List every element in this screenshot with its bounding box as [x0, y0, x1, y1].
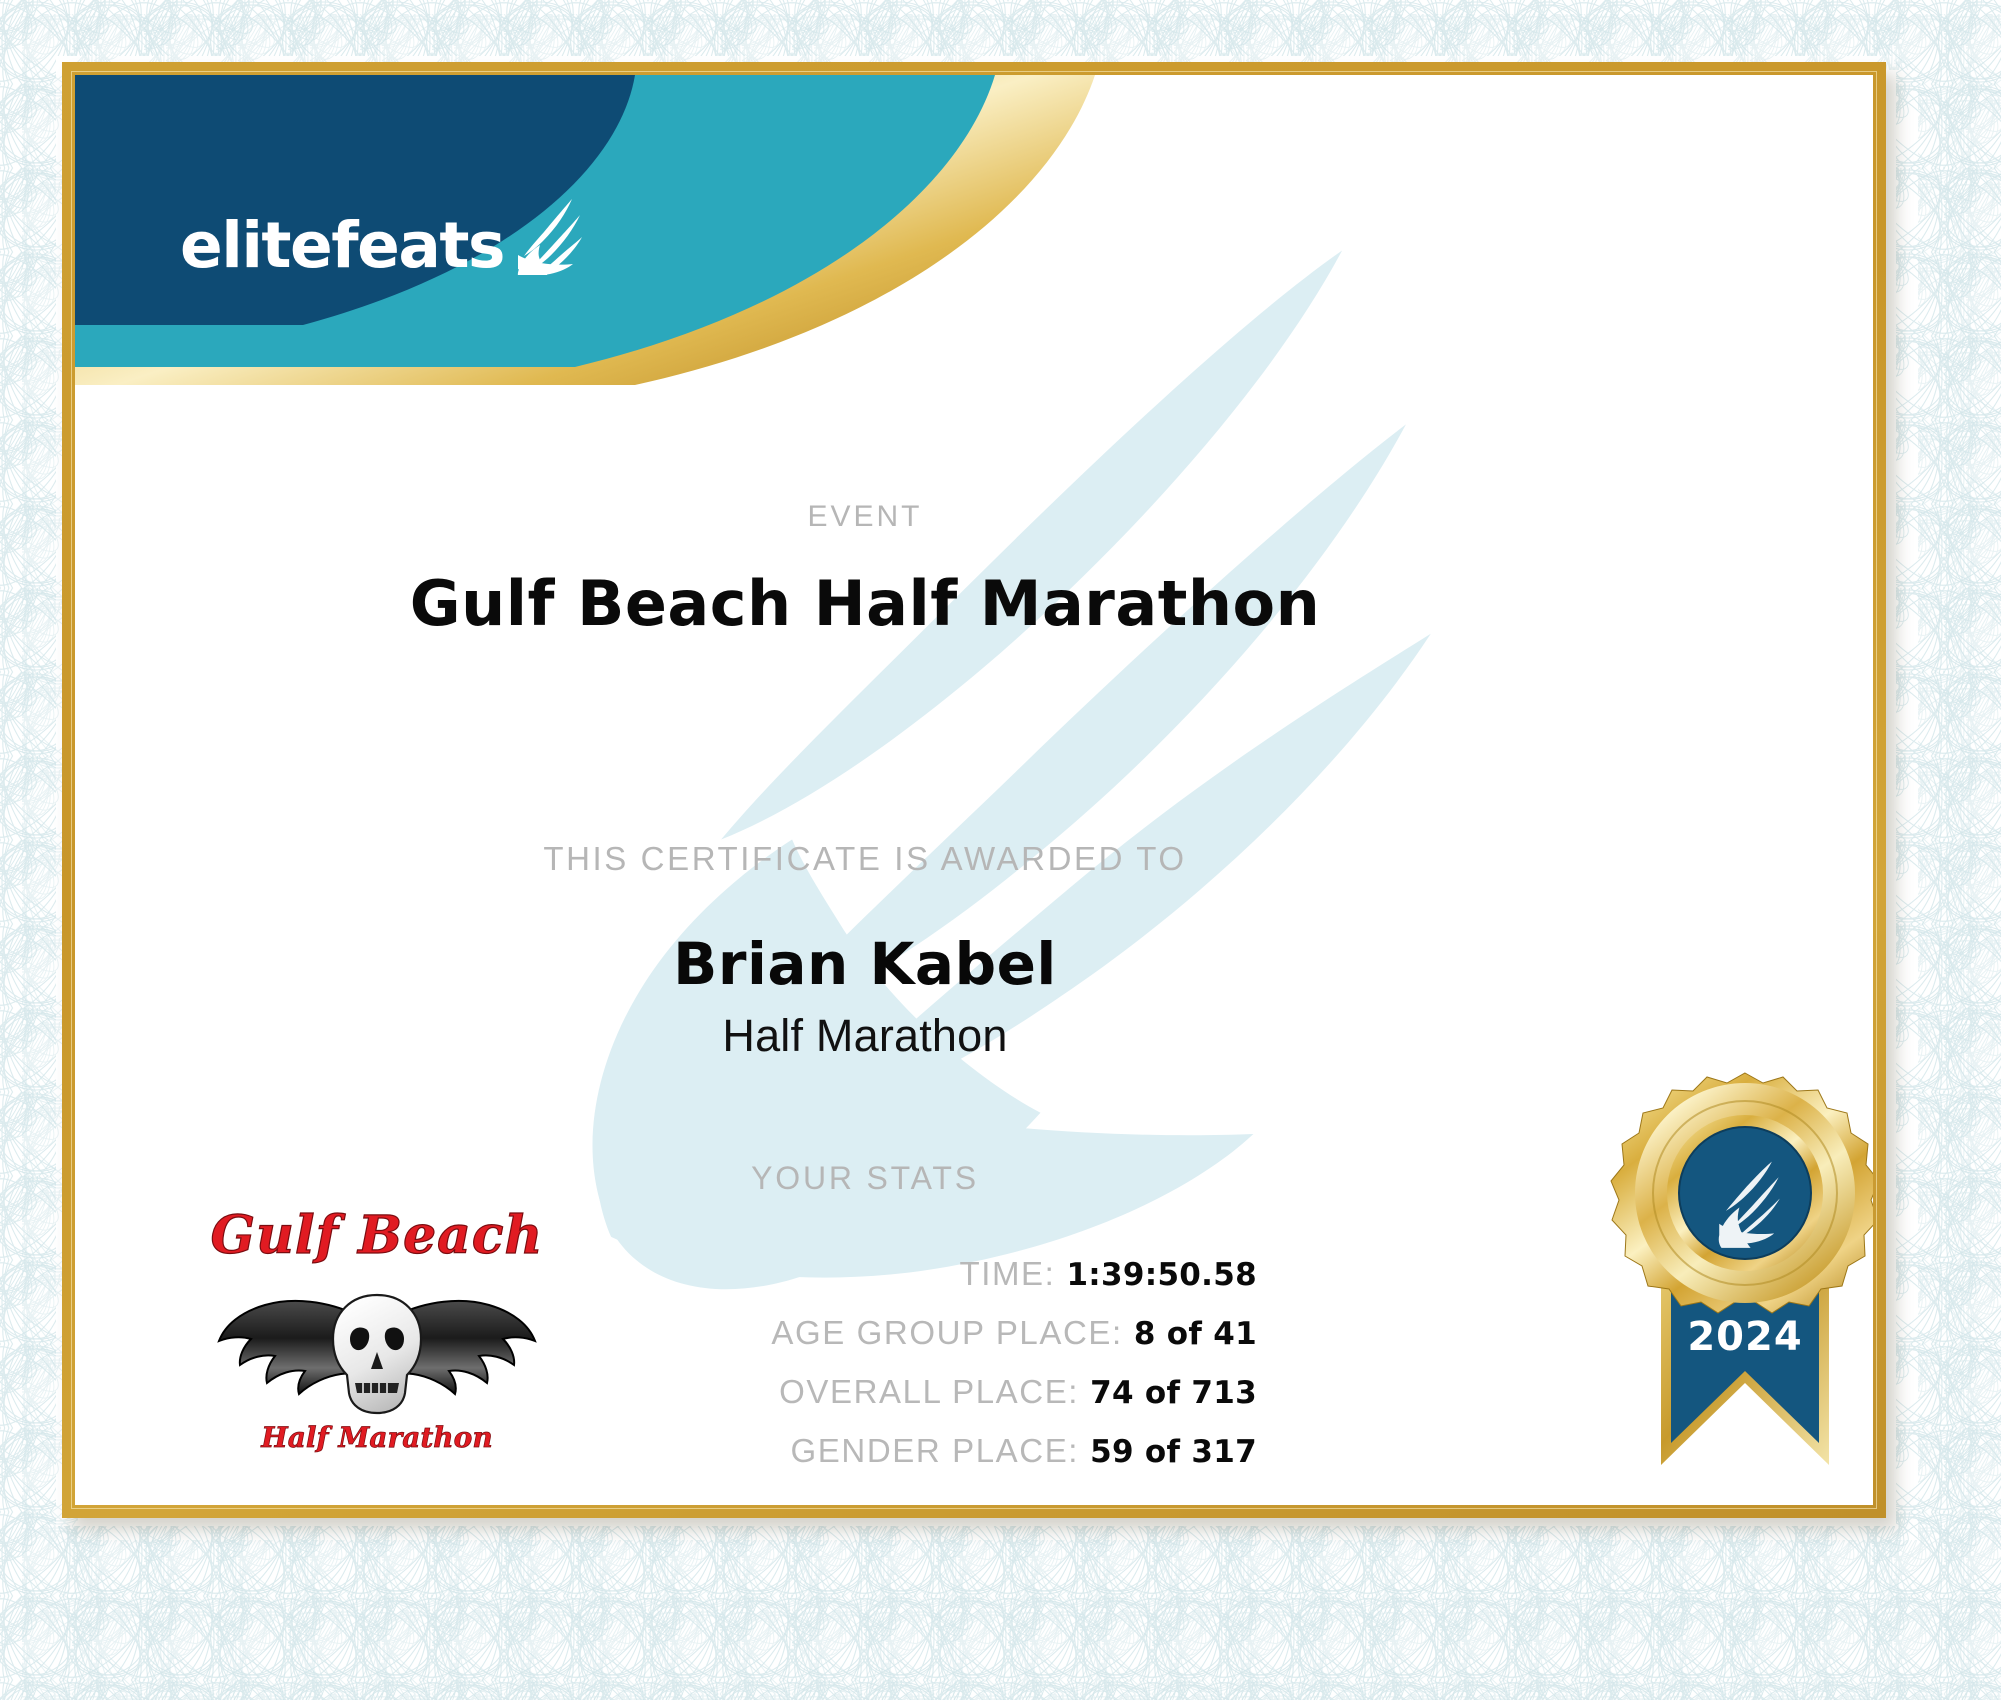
elitefeats-logo: elitefeats	[180, 197, 586, 277]
stat-key: GENDER PLACE:	[791, 1432, 1080, 1470]
skull-icon	[333, 1295, 421, 1413]
stat-value: 8 of 41	[1134, 1316, 1257, 1352]
stat-key: AGE GROUP PLACE:	[771, 1314, 1122, 1352]
gulf-beach-race-logo: Gulf Beach	[207, 1197, 547, 1467]
your-stats-label: YOUR STATS	[75, 1160, 1655, 1197]
race-logo-subtitle: Half Marathon	[260, 1421, 492, 1454]
stat-value: 59 of 317	[1090, 1434, 1257, 1470]
event-name: Gulf Beach Half Marathon	[75, 567, 1655, 640]
race-logo-title: Gulf Beach	[211, 1205, 544, 1266]
stat-value: 74 of 713	[1090, 1375, 1257, 1411]
winged-foot-medal-icon: 2024	[1565, 1065, 1873, 1505]
recipient-name: Brian Kabel	[75, 930, 1655, 998]
event-label: EVENT	[75, 500, 1655, 534]
stat-key: OVERALL PLACE:	[779, 1373, 1079, 1411]
winged-foot-icon	[510, 197, 586, 275]
certificate-body: elitefeats EVENT Gulf Beach Half Maratho…	[75, 75, 1873, 1505]
finisher-seal: 2024	[1565, 1065, 1873, 1505]
awarded-to-label: THIS CERTIFICATE IS AWARDED TO	[75, 840, 1655, 878]
certificate-gold-frame: elitefeats EVENT Gulf Beach Half Maratho…	[62, 62, 1886, 1518]
brand-wordmark: elitefeats	[180, 214, 504, 277]
certificate-page: elitefeats EVENT Gulf Beach Half Maratho…	[0, 0, 2001, 1700]
certificate-content: EVENT Gulf Beach Half Marathon THIS CERT…	[75, 75, 1873, 1505]
seal-year: 2024	[1687, 1314, 1802, 1360]
stat-value: 1:39:50.58	[1066, 1257, 1257, 1293]
seal-medal	[1611, 1073, 1873, 1313]
stat-key: TIME:	[959, 1255, 1055, 1293]
race-category: Half Marathon	[75, 1010, 1655, 1062]
